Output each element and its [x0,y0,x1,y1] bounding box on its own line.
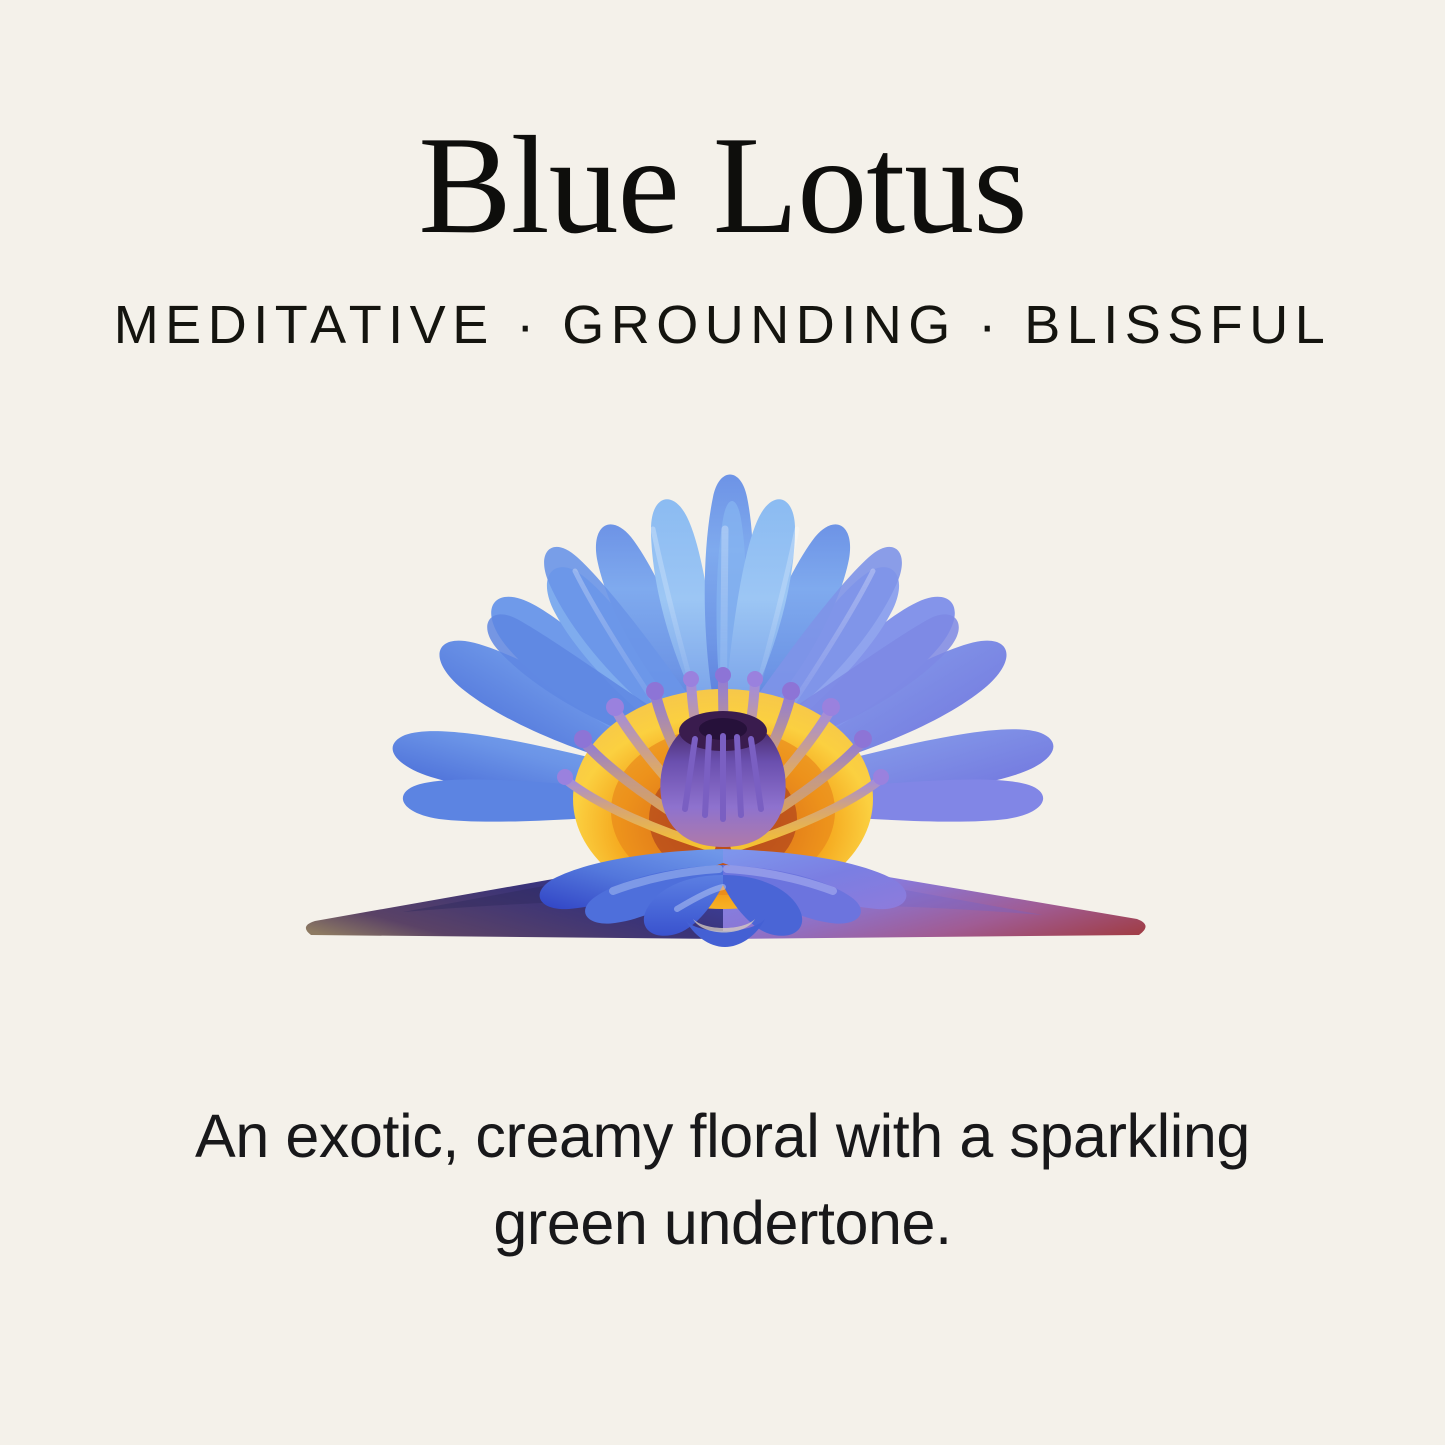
product-card: Blue Lotus MEDITATIVE · GROUNDING · BLIS… [0,0,1445,1445]
lotus-illustration [0,379,1445,1019]
blue-lotus-icon [253,379,1193,1019]
page-title: Blue Lotus [418,0,1026,256]
product-description: An exotic, creamy floral with a sparklin… [153,1019,1293,1266]
carpel-dome [660,711,785,847]
product-attributes: MEDITATIVE · GROUNDING · BLISSFUL [114,256,1332,355]
